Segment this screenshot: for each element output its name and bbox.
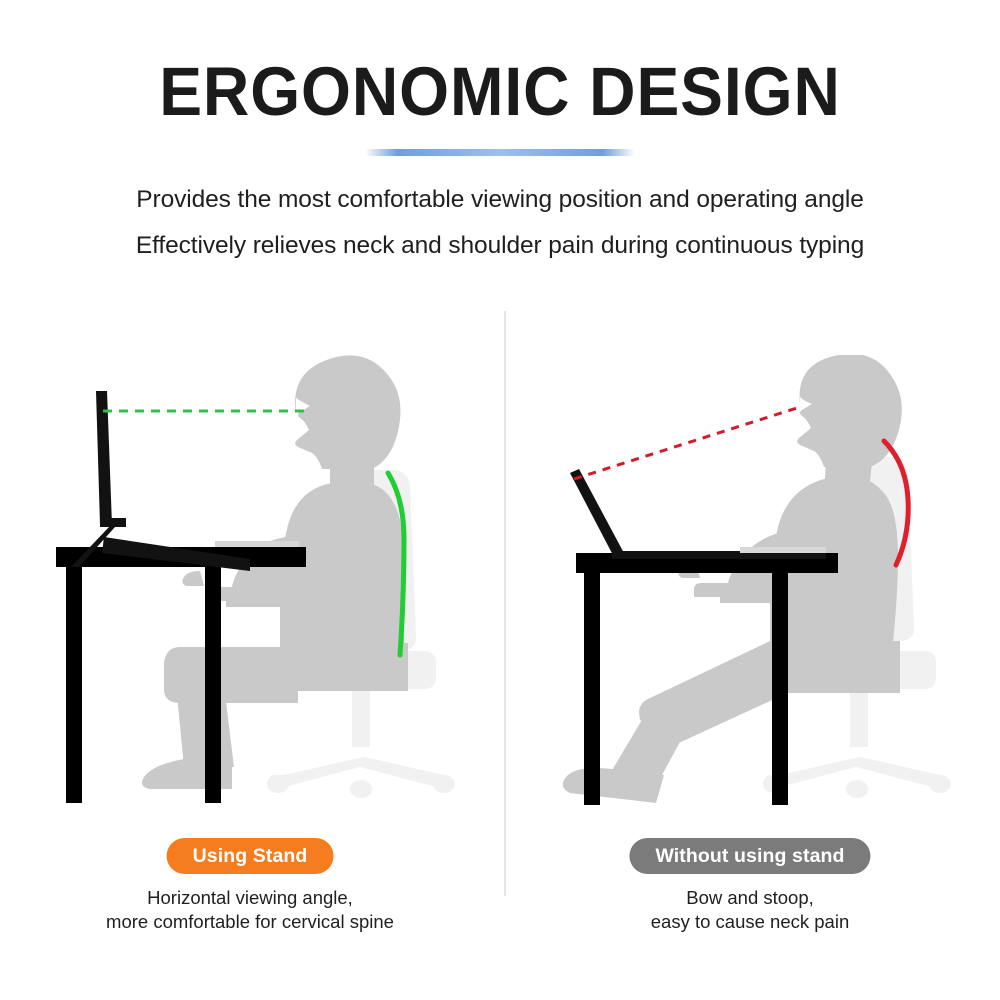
caption-left-line-1: Horizontal viewing angle, bbox=[0, 886, 500, 910]
caption-right-line-1: Bow and stoop, bbox=[500, 886, 1000, 910]
caption-right-line-2: easy to cause neck pain bbox=[500, 910, 1000, 934]
infographic-page: ERGONOMIC DESIGN Provides the most comfo… bbox=[0, 0, 1000, 1000]
subtitle-line-1: Provides the most comfortable viewing po… bbox=[0, 186, 1000, 214]
caption-using-stand: Horizontal viewing angle, more comfortab… bbox=[0, 886, 500, 934]
subtitle-line-2: Effectively relieves neck and shoulder p… bbox=[0, 232, 1000, 260]
badge-without-using-stand[interactable]: Without using stand bbox=[629, 838, 870, 874]
caption-left-line-2: more comfortable for cervical spine bbox=[0, 910, 500, 934]
sight-line-red-right bbox=[574, 407, 800, 479]
badge-using-stand[interactable]: Using Stand bbox=[167, 838, 334, 874]
illustration-using-stand bbox=[0, 355, 500, 810]
caption-without-stand: Bow and stoop, easy to cause neck pain bbox=[500, 886, 1000, 934]
title-underline-rule bbox=[365, 149, 635, 156]
page-title: ERGONOMIC DESIGN bbox=[35, 52, 965, 131]
illustration-without-stand bbox=[500, 355, 1000, 810]
